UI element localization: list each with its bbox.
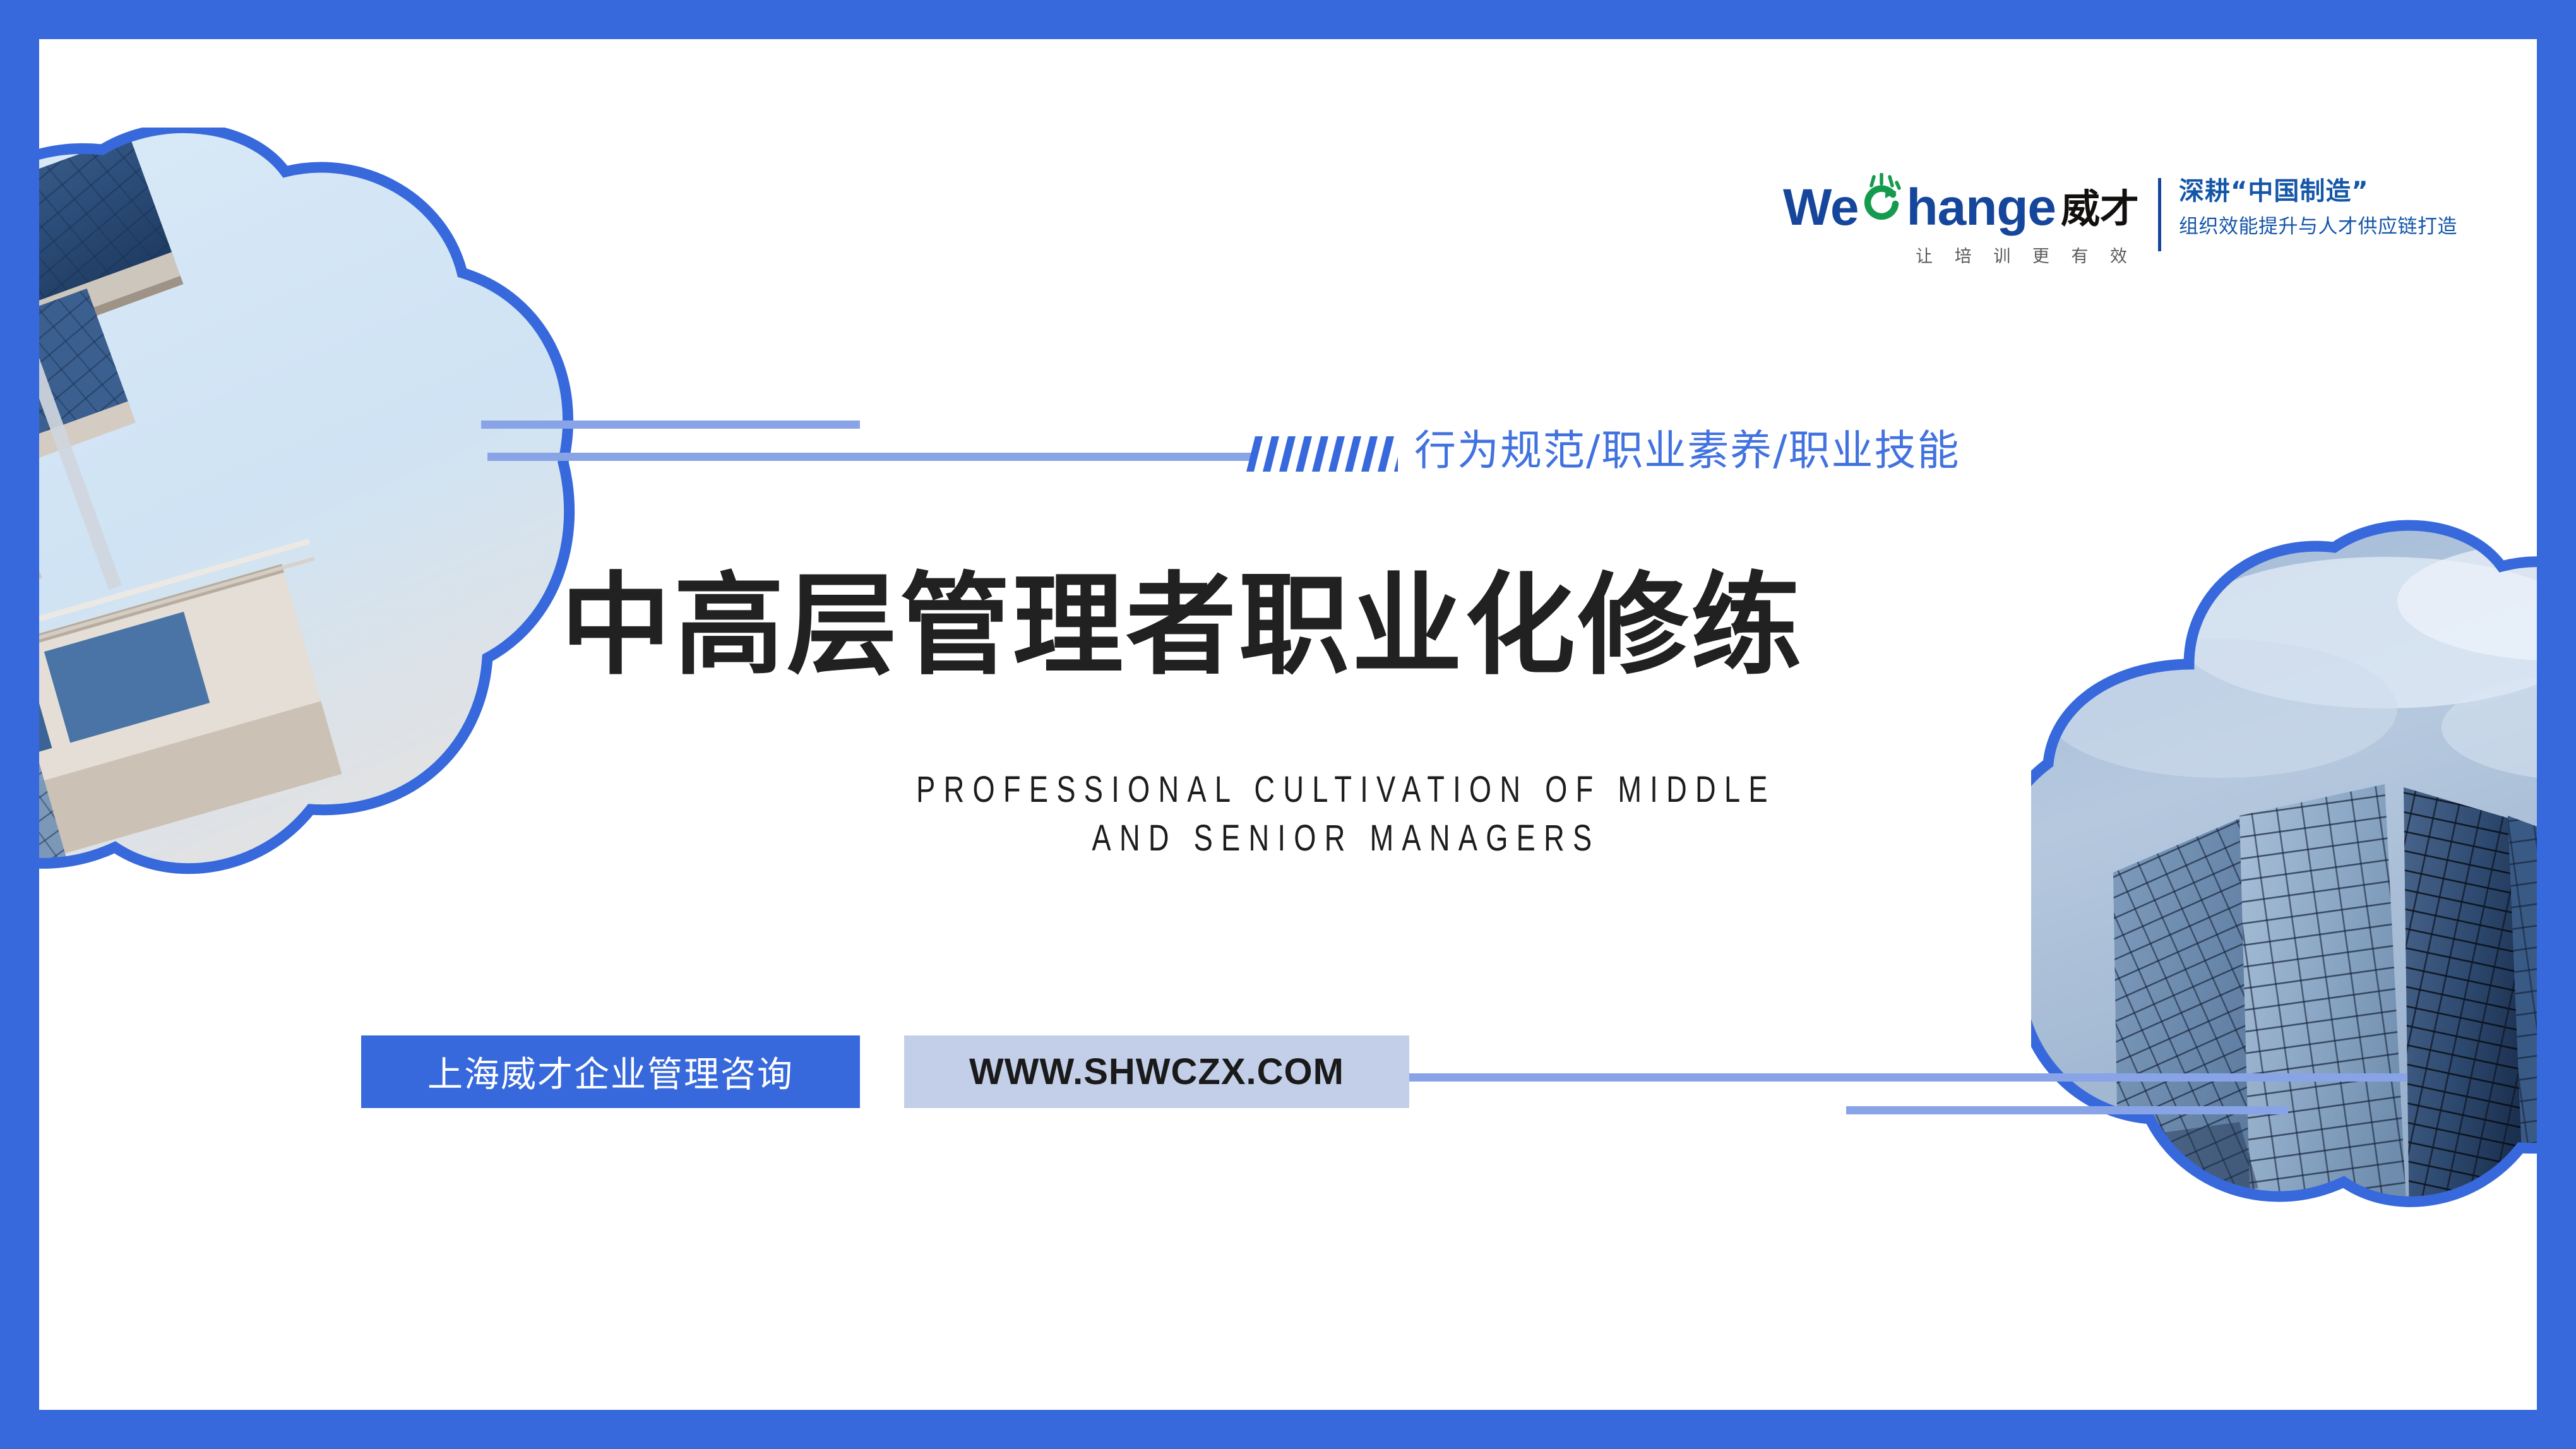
decor-rule-right-bottom [1846, 1106, 2288, 1114]
website-badge-label: WWW.SHWCZX.COM [969, 1051, 1344, 1093]
page-title: 中高层管理者职业化修练 [561, 571, 1804, 681]
decor-rule-left-top [481, 420, 860, 429]
decor-rule-left-bottom [487, 453, 1255, 461]
cloud-photo-frame-right-icon [2031, 519, 2537, 1277]
page-subtitle: PROFESSIONAL CULTIVATION OF MIDDLE AND S… [736, 765, 1957, 862]
brand-logo-we: We [1783, 182, 1859, 234]
cloud-photo-frame-left-icon [39, 128, 582, 1049]
green-circular-arrow-icon [1860, 173, 1905, 225]
brand-logo-divider [2158, 178, 2161, 251]
brand-slogans: 深耕“中国制造” 组织效能提升与人才供应链打造 [2179, 173, 2457, 239]
brand-logo-chinese: 威才 [2061, 189, 2139, 229]
diagonal-stripes-icon [1246, 436, 1398, 472]
brand-slogan-primary: 深耕“中国制造” [2179, 176, 2457, 207]
decor-rule-right-top [1409, 1073, 2407, 1082]
brand-logo-tagline: 让 培 训 更 有 效 [1916, 242, 2139, 267]
organization-badge[interactable]: 上海威才企业管理咨询 [361, 1035, 860, 1108]
page-subtitle-line1: PROFESSIONAL CULTIVATION OF MIDDLE [736, 765, 1957, 814]
brand-logo-hange: hange [1907, 182, 2056, 234]
headline-kicker: 行为规范/职业素养/职业技能 [1414, 417, 1960, 477]
brand-slogan-secondary: 组织效能提升与人才供应链打造 [2179, 215, 2457, 239]
page-subtitle-line2: AND SENIOR MANAGERS [736, 814, 1957, 862]
poster-canvas: We hange [39, 39, 2537, 1410]
website-badge[interactable]: WWW.SHWCZX.COM [904, 1035, 1409, 1108]
brand-logo[interactable]: We hange [1783, 173, 2457, 267]
brand-wordmark: We hange [1783, 173, 2139, 234]
brand-logo-left: We hange [1783, 173, 2139, 267]
organization-badge-label: 上海威才企业管理咨询 [427, 1046, 794, 1097]
poster-root: We hange [0, 0, 2576, 1449]
